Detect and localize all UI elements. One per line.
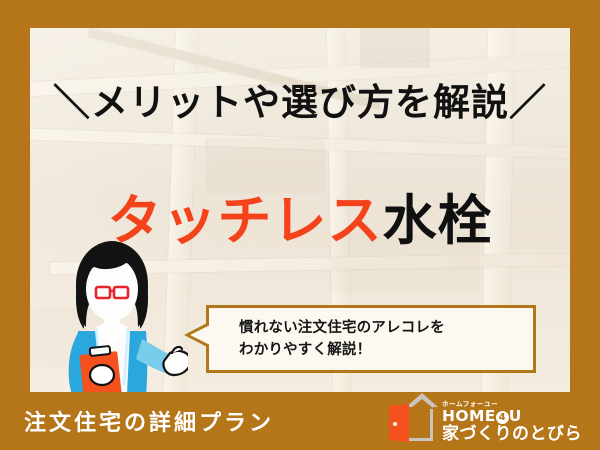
bubble-tail-inner <box>190 325 210 345</box>
home4u-logo[interactable]: ホームフォーユー HOME4U 家づくりのとびら <box>387 397 582 447</box>
speech-bubble: 慣れない注文住宅のアレコレを わかりやすく解説！ <box>206 305 536 373</box>
bottom-tagline: 注文住宅の詳細プラン <box>24 405 274 437</box>
open-door-icon <box>389 404 409 442</box>
logo-japanese-name: 家づくりのとびら <box>442 426 582 443</box>
logo-brand-number: 4 <box>496 411 509 424</box>
house-outline-icon <box>406 405 433 441</box>
door-knob-icon <box>393 422 397 426</box>
logo-brand-prefix: HOME <box>442 407 496 425</box>
logo-brand-name: HOME4U <box>442 409 582 425</box>
door-house-icon <box>387 400 435 444</box>
logo-text-block: ホームフォーユー HOME4U 家づくりのとびら <box>442 401 582 443</box>
bubble-line-1: 慣れない注文住宅のアレコレを <box>239 317 525 339</box>
title-plain: 水栓 <box>383 189 493 252</box>
banner-graphic: ＼メリットや選び方を解説／ タッチレス水栓 <box>0 0 600 450</box>
bubble-line-2: わかりやすく解説！ <box>239 339 525 361</box>
bottom-bar: 注文住宅の詳細プラン ホームフォーユー HOME4U 家づくりのとびら <box>0 392 600 450</box>
bubble-text: 慣れない注文住宅のアレコレを わかりやすく解説！ <box>239 317 525 362</box>
kicker-headline: ＼メリットや選び方を解説／ <box>0 72 600 126</box>
logo-brand-suffix: U <box>509 407 522 425</box>
